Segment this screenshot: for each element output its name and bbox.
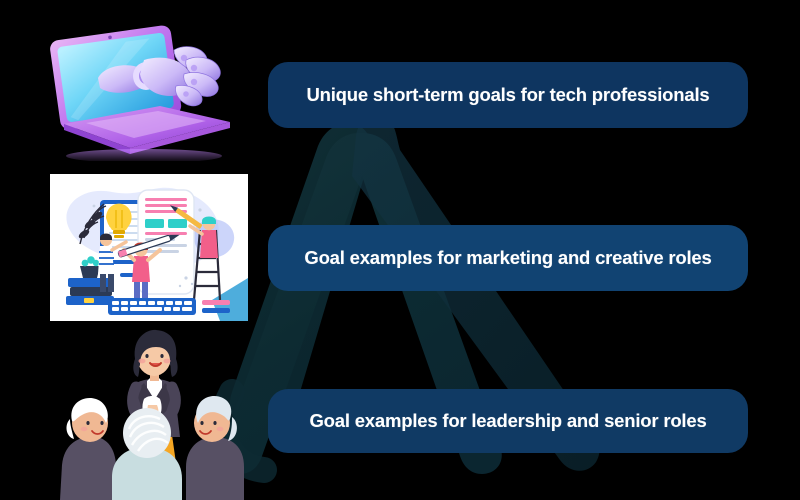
leader-presenting-to-team-illustration <box>52 325 252 500</box>
goal-pill-tech-label: Unique short-term goals for tech profess… <box>306 84 709 106</box>
goal-pill-leadership[interactable]: Goal examples for leadership and senior … <box>268 389 748 453</box>
goal-pill-leadership-label: Goal examples for leadership and senior … <box>309 410 706 432</box>
content-creation-teamwork-illustration <box>50 174 248 321</box>
laptop-robot-hand-illustration <box>34 16 244 161</box>
goal-pill-marketing[interactable]: Goal examples for marketing and creative… <box>268 225 748 291</box>
infographic-canvas: Unique short-term goals for tech profess… <box>0 0 800 500</box>
goal-pill-marketing-label: Goal examples for marketing and creative… <box>304 247 711 269</box>
goal-pill-tech[interactable]: Unique short-term goals for tech profess… <box>268 62 748 128</box>
